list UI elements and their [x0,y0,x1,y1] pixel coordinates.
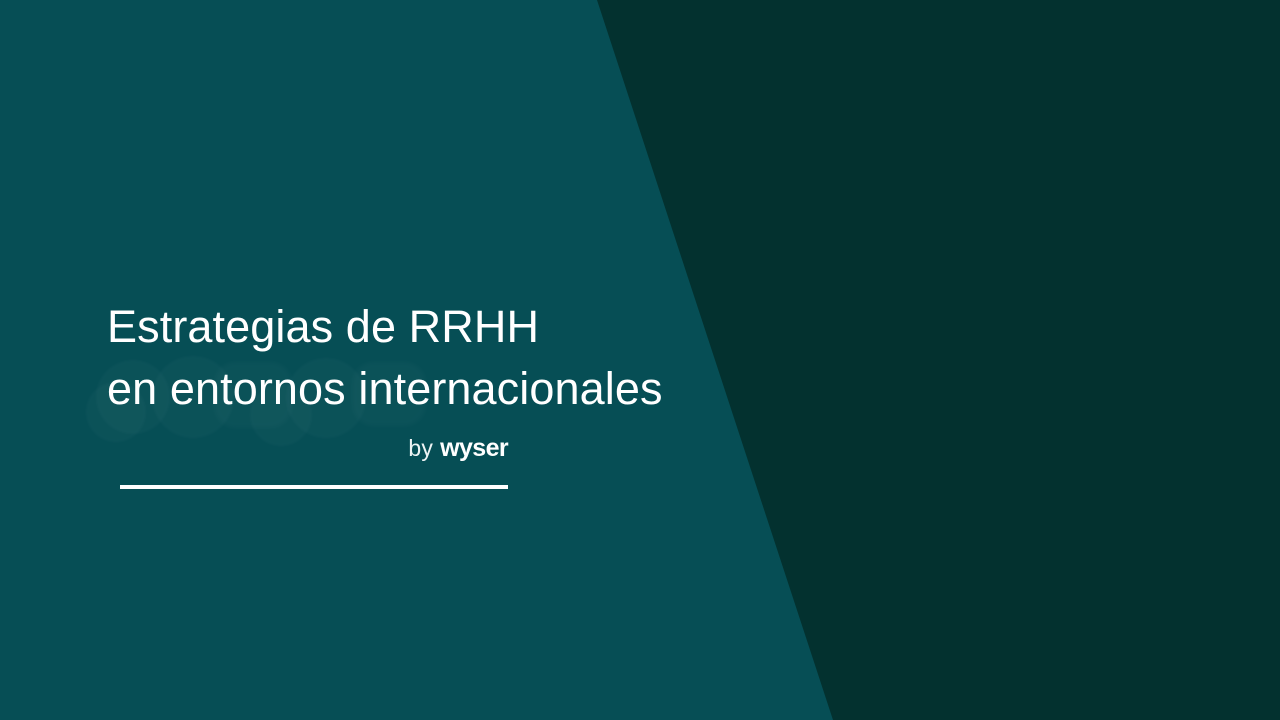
title-underline-rule [120,485,508,489]
title-slide: Estrategias de RRHH en entornos internac… [0,0,1280,720]
brand-byline: bywyser [107,436,508,461]
page-title-line-1: Estrategias de RRHH [107,296,747,358]
wyser-logo-wordmark: wyser [440,434,508,462]
page-title-line-2: en entornos internacionales [107,358,747,420]
byline-prefix-label: by [408,435,433,461]
title-content-block: Estrategias de RRHH en entornos internac… [107,296,747,461]
